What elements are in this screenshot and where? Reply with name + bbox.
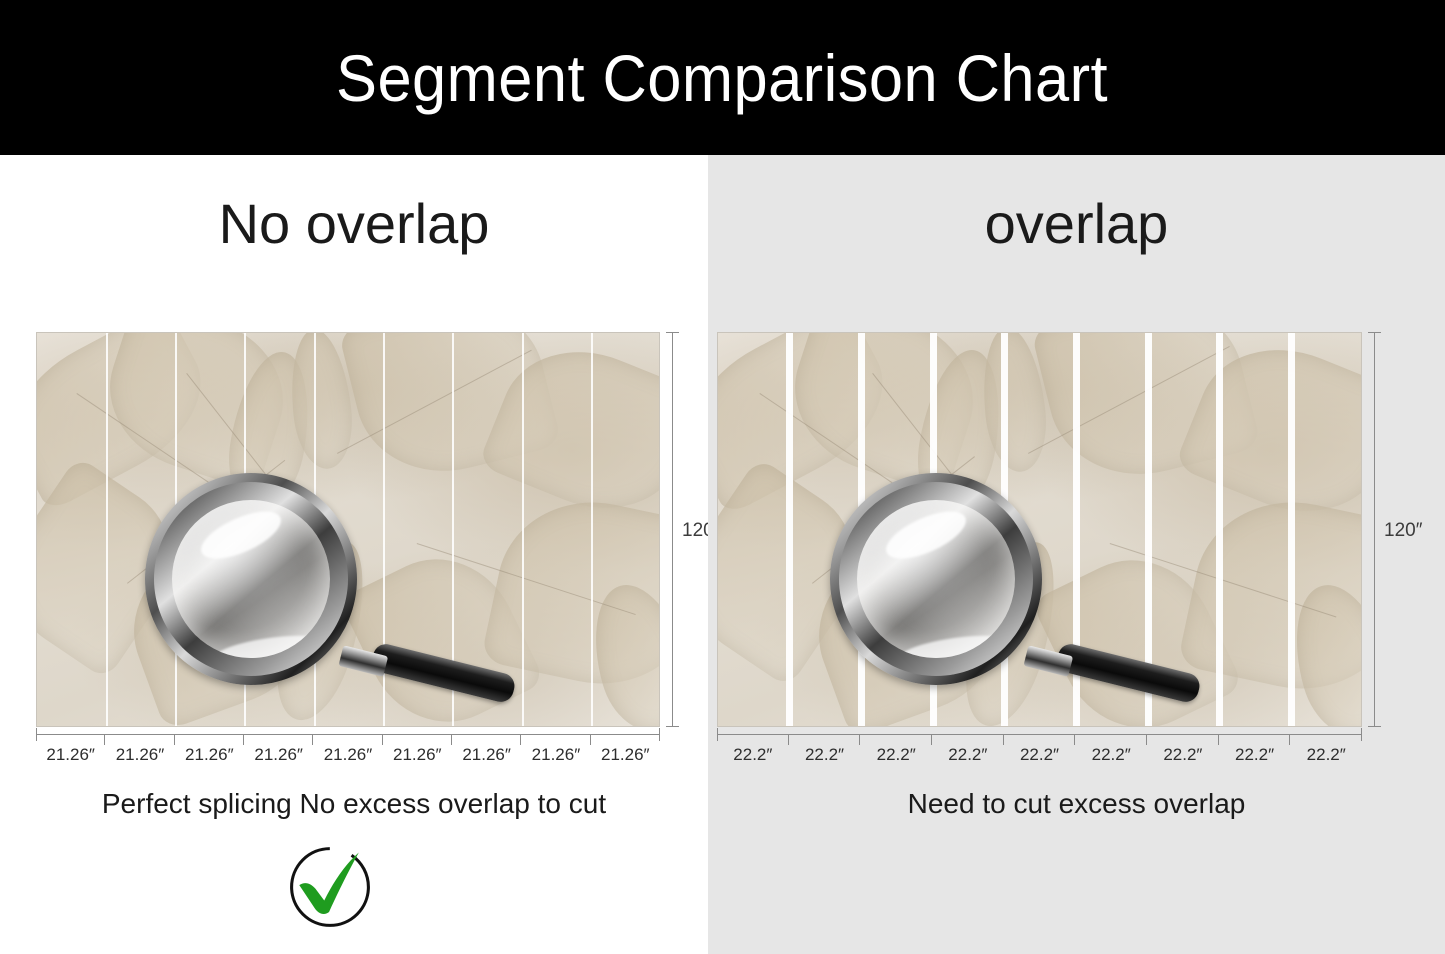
segment-tick: [105, 734, 174, 745]
mural-seam: [106, 333, 108, 726]
segment-width-label: 21.26″: [175, 745, 244, 765]
segment-tick: [1147, 734, 1219, 745]
mural-seam: [314, 333, 316, 726]
segment-tick: [860, 734, 932, 745]
segment-ticks-right: [717, 734, 1362, 745]
mural-seam: [175, 333, 177, 726]
segment-width-label: 22.2″: [1004, 745, 1076, 765]
mural-seam: [591, 333, 593, 726]
segment-tick: [36, 734, 105, 745]
mural-seam: [1145, 333, 1152, 726]
mural-seam: [452, 333, 454, 726]
segment-width-label: 21.26″: [452, 745, 521, 765]
mural-image-right: [717, 332, 1362, 727]
mural-seam: [930, 333, 937, 726]
segment-tick: [1219, 734, 1291, 745]
segment-tick: [789, 734, 861, 745]
segment-width-label: 22.2″: [1219, 745, 1291, 765]
segment-width-label: 22.2″: [789, 745, 861, 765]
height-dimension-label-right: 120″: [1384, 520, 1422, 542]
segment-width-label: 22.2″: [1075, 745, 1147, 765]
height-dimension-line-right: [1374, 332, 1375, 727]
segment-tick: [521, 734, 590, 745]
caption-right: Need to cut excess overlap: [708, 788, 1445, 820]
segment-width-label: 22.2″: [717, 745, 789, 765]
segment-tick: [717, 734, 789, 745]
check-circle-icon: [282, 839, 378, 935]
mural-seam: [1288, 333, 1295, 726]
caption-left: Perfect splicing No excess overlap to cu…: [0, 788, 756, 820]
comparison-panels: No overlap: [0, 155, 1445, 954]
mural-no-overlap: [36, 332, 660, 727]
segment-labels-right: 22.2″ 22.2″ 22.2″ 22.2″ 22.2″ 22.2″ 22.2…: [717, 745, 1362, 765]
mural-overlap: [717, 332, 1362, 727]
panel-overlap: overlap: [708, 155, 1445, 954]
segment-labels-left: 21.26″ 21.26″ 21.26″ 21.26″ 21.26″ 21.26…: [36, 745, 660, 765]
panel-heading-right: overlap: [708, 195, 1445, 254]
segment-tick: [1075, 734, 1147, 745]
mural-seam: [1073, 333, 1080, 726]
segment-ticks-left: [36, 734, 660, 745]
page-title: Segment Comparison Chart: [337, 45, 1109, 111]
title-banner: Segment Comparison Chart: [0, 0, 1445, 155]
segment-tick: [1004, 734, 1076, 745]
mural-image-left: [36, 332, 660, 727]
segment-tick: [175, 734, 244, 745]
mural-seam: [244, 333, 246, 726]
segment-tick: [452, 734, 521, 745]
mural-seam: [1001, 333, 1008, 726]
segment-tick: [313, 734, 382, 745]
height-dimension-line-left: [672, 332, 673, 727]
segment-tick: [932, 734, 1004, 745]
segment-width-label: 21.26″: [313, 745, 382, 765]
segment-width-label: 22.2″: [932, 745, 1004, 765]
segment-tick: [244, 734, 313, 745]
mural-seam: [383, 333, 385, 726]
mural-seam: [1216, 333, 1223, 726]
mural-seam: [522, 333, 524, 726]
panel-no-overlap: No overlap: [0, 155, 708, 954]
segment-width-label: 21.26″: [105, 745, 174, 765]
segment-comparison-page: Segment Comparison Chart No overlap: [0, 0, 1445, 954]
segment-width-label: 21.26″: [383, 745, 452, 765]
segment-width-label: 22.2″: [1147, 745, 1219, 765]
segment-width-label: 21.26″: [244, 745, 313, 765]
segment-tick: [1290, 734, 1362, 745]
segment-tick: [383, 734, 452, 745]
segment-width-label: 21.26″: [36, 745, 105, 765]
mural-seam: [858, 333, 865, 726]
segment-width-label: 22.2″: [860, 745, 932, 765]
segment-width-label: 22.2″: [1290, 745, 1362, 765]
segment-tick: [591, 734, 660, 745]
mural-seam: [786, 333, 793, 726]
segment-width-label: 21.26″: [591, 745, 660, 765]
segment-width-label: 21.26″: [521, 745, 590, 765]
